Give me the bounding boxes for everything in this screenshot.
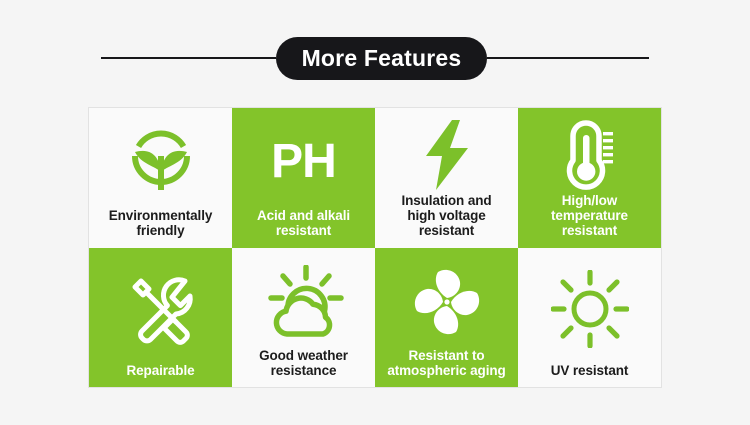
feature-label: Acid and alkali resistant [232,208,375,247]
feature-cell-environmentally-friendly[interactable]: Environmentally friendly [89,108,232,248]
eco-leaf-icon [89,116,232,208]
feature-label: UV resistant [518,363,661,387]
feature-label: Environmentally friendly [89,208,232,247]
feature-cell-high-low-temperature[interactable]: High/low temperature resistant [518,108,661,248]
ph-text-icon: PH [232,116,375,208]
section-header: More Features [0,30,750,86]
feature-label: Resistant to atmospheric aging [375,348,518,387]
feature-cell-repairable[interactable]: Repairable [89,248,232,388]
tools-wrench-screwdriver-icon [89,256,232,363]
feature-label: Repairable [89,363,232,387]
feature-label: High/low temperature resistant [518,193,661,247]
feature-label: Good weather resistance [232,348,375,387]
feature-cell-acid-alkali-resistant[interactable]: PH Acid and alkali resistant [232,108,375,248]
fan-icon [375,256,518,348]
feature-label: Insulation and high voltage resistant [375,193,518,247]
ph-label: PH [271,138,336,186]
sun-icon [518,256,661,363]
header-rule-right [487,57,649,59]
header-rule-left [101,57,276,59]
feature-cell-resistant-atmospheric-aging[interactable]: Resistant to atmospheric aging [375,248,518,388]
feature-cell-good-weather-resistance[interactable]: Good weather resistance [232,248,375,388]
sun-behind-cloud-icon [232,256,375,348]
feature-grid: Environmentally friendly PH Acid and alk… [88,107,662,388]
feature-cell-insulation-high-voltage[interactable]: Insulation and high voltage resistant [375,108,518,248]
feature-cell-uv-resistant[interactable]: UV resistant [518,248,661,388]
page-title: More Features [276,37,488,80]
lightning-bolt-icon [375,116,518,193]
thermometer-icon [518,116,661,193]
